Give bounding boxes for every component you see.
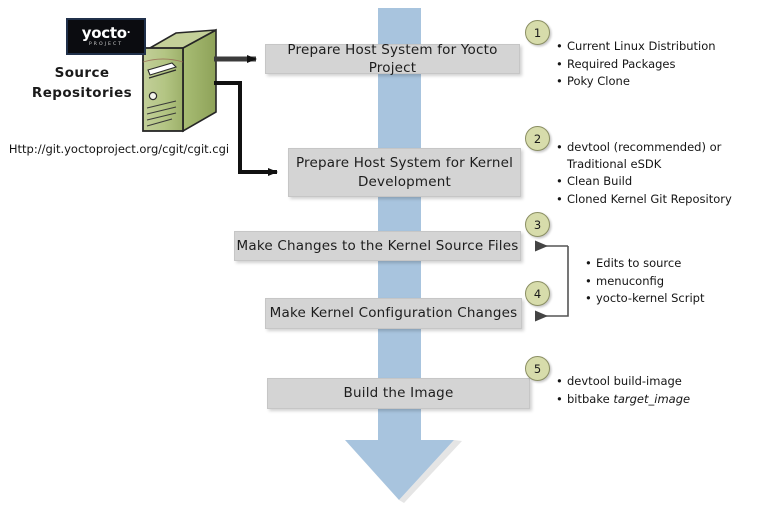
notes-step-1: Current Linux Distribution Required Pack… bbox=[553, 38, 763, 91]
connector-server-to-box2 bbox=[214, 83, 277, 172]
note-item: devtool (recommended) or Traditional eSD… bbox=[567, 139, 758, 172]
note-item: yocto-kernel Script bbox=[596, 290, 762, 307]
source-repositories-line2: Repositories bbox=[22, 84, 142, 104]
note-item: Current Linux Distribution bbox=[567, 38, 763, 55]
note-item: Required Packages bbox=[567, 56, 763, 73]
source-repositories-line1: Source bbox=[22, 64, 142, 84]
source-repositories-label: Source Repositories bbox=[22, 64, 142, 103]
process-box-prepare-host-yocto[interactable]: Prepare Host System for Yocto Project bbox=[265, 44, 520, 74]
note-item: menuconfig bbox=[596, 273, 762, 290]
note-item: Poky Clone bbox=[567, 73, 763, 90]
step-circle-2: 2 bbox=[525, 126, 550, 151]
note-item: Edits to source bbox=[596, 255, 762, 272]
yocto-project-logo: yocto· PROJECT bbox=[66, 18, 146, 55]
process-box-prepare-host-kernel[interactable]: Prepare Host System for Kernel Developme… bbox=[288, 148, 521, 197]
step-circle-1: 1 bbox=[525, 20, 550, 45]
source-repository-url: Http://git.yoctoproject.org/cgit/cgit.cg… bbox=[4, 142, 234, 156]
note-item: Cloned Kernel Git Repository bbox=[567, 191, 758, 208]
note-bitbake-target: target_image bbox=[613, 392, 690, 406]
yocto-logo-dot: · bbox=[127, 27, 131, 38]
note-bitbake-command: bitbake bbox=[567, 392, 613, 406]
process-box-make-kernel-source-changes[interactable]: Make Changes to the Kernel Source Files bbox=[234, 231, 521, 261]
yocto-logo-wordmark: yocto· bbox=[82, 26, 130, 41]
notes-step-5: devtool build-image bitbake target_image bbox=[553, 373, 758, 408]
notes-step-3-and-4: Edits to source menuconfig yocto-kernel … bbox=[582, 255, 762, 308]
step-circle-3: 3 bbox=[525, 212, 550, 237]
process-box-build-the-image[interactable]: Build the Image bbox=[267, 378, 530, 409]
yocto-logo-text: yocto bbox=[82, 24, 127, 42]
step-circle-5: 5 bbox=[525, 356, 550, 381]
step-circle-4: 4 bbox=[525, 281, 550, 306]
process-box-make-kernel-config-changes[interactable]: Make Kernel Configuration Changes bbox=[265, 298, 522, 329]
note-item: Clean Build bbox=[567, 173, 758, 190]
notes-step-2: devtool (recommended) or Traditional eSD… bbox=[553, 139, 758, 209]
yocto-logo-subtext: PROJECT bbox=[89, 43, 123, 48]
note-item: devtool build-image bbox=[567, 373, 758, 390]
note-item-bitbake: bitbake target_image bbox=[567, 391, 758, 408]
server-icon bbox=[143, 30, 216, 131]
